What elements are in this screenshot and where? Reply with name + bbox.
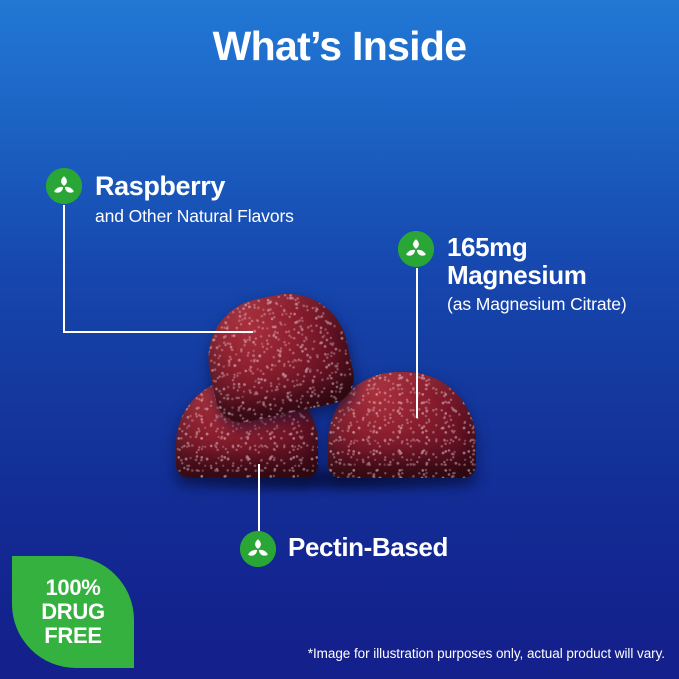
leaf-sprout-icon-pectin [240,531,276,567]
callout-magnesium-subtitle: (as Magnesium Citrate) [447,294,647,316]
connector-line-magnesium [416,268,418,418]
connector-line-raspberry-vertical [63,205,65,333]
callout-pectin-title: Pectin-Based [288,533,448,561]
drug-free-line-1: 100% [45,576,100,600]
leaf-sprout-icon-raspberry [46,168,82,204]
callout-raspberry-subtitle: and Other Natural Flavors [95,206,294,228]
whats-inside-infographic: What’s Inside Raspberry and Other Natura… [0,0,679,679]
connector-line-raspberry-horizontal [63,331,253,333]
callout-magnesium-title: 165mg Magnesium [447,233,647,289]
callout-raspberry-title: Raspberry [95,172,294,201]
connector-line-pectin [258,464,260,536]
product-image [168,296,498,496]
callout-raspberry: Raspberry and Other Natural Flavors [95,172,294,228]
callout-pectin: Pectin-Based [288,533,448,561]
drug-free-line-3: FREE [44,624,101,648]
drug-free-badge: 100% DRUG FREE [12,556,134,668]
gummy-top [197,283,358,428]
disclaimer-footnote: *Image for illustration purposes only, a… [308,646,665,661]
leaf-sprout-icon-magnesium [398,231,434,267]
callout-magnesium: 165mg Magnesium (as Magnesium Citrate) [447,233,647,316]
page-title: What’s Inside [0,24,679,69]
drug-free-line-2: DRUG [41,600,105,624]
